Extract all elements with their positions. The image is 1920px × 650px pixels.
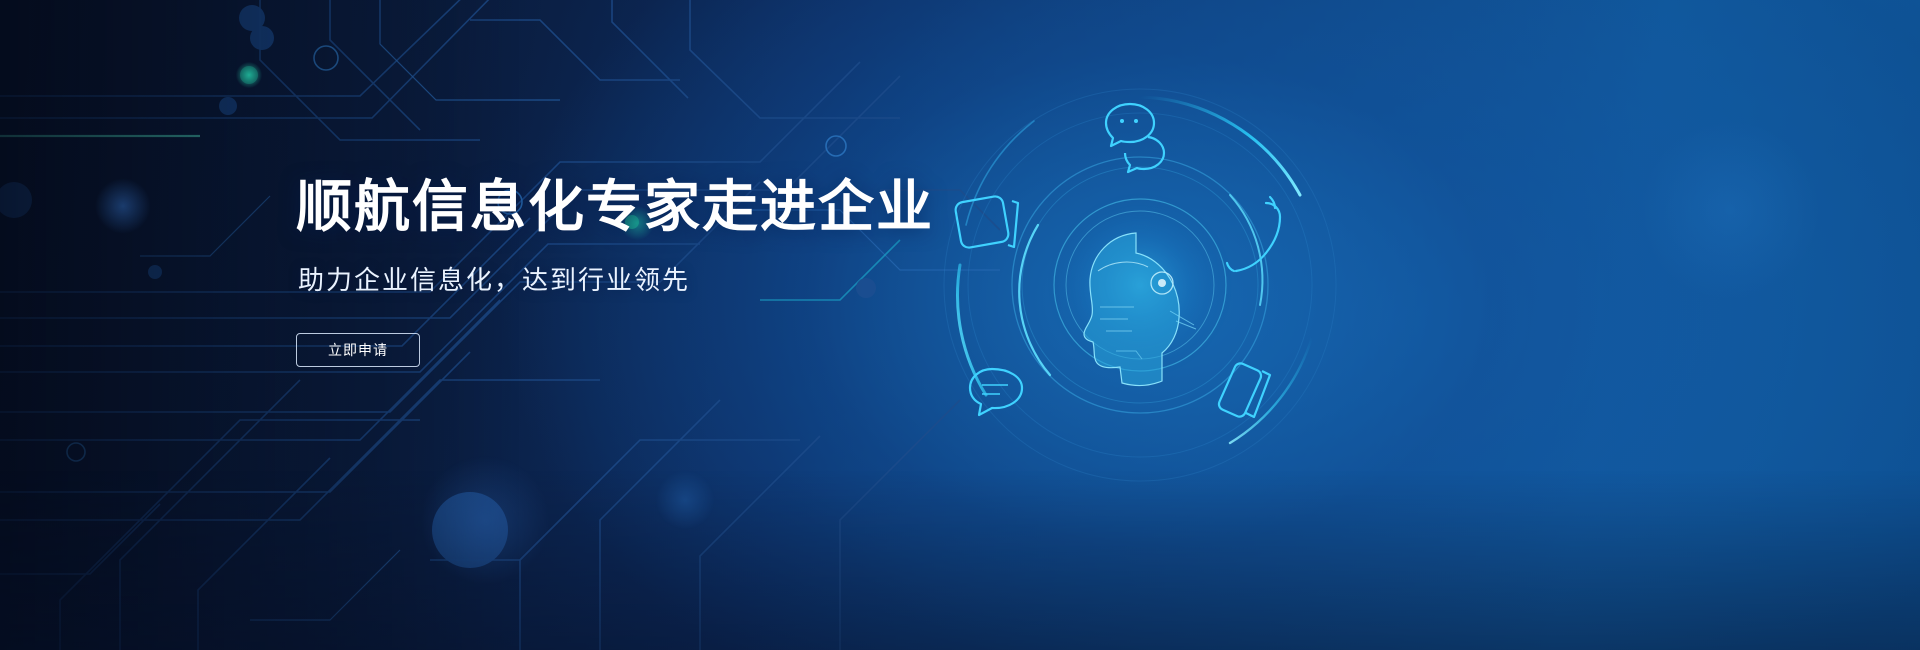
hero-content: 顺航信息化专家走进企业 助力企业信息化，达到行业领先 立即申请 bbox=[296, 0, 1056, 650]
apply-now-button[interactable]: 立即申请 bbox=[296, 333, 420, 367]
mobile-device-icon bbox=[1217, 361, 1270, 418]
page-title: 顺航信息化专家走进企业 bbox=[296, 176, 934, 239]
hero-subtitle: 助力企业信息化，达到行业领先 bbox=[298, 260, 690, 297]
glow-node-6 bbox=[1640, 120, 1820, 300]
glow-node-1 bbox=[95, 178, 151, 234]
hero-banner: 顺航信息化专家走进企业 助力企业信息化，达到行业领先 立即申请 bbox=[0, 0, 1920, 650]
chat-bubbles-icon bbox=[1106, 104, 1164, 172]
glow-node-3 bbox=[236, 62, 262, 88]
